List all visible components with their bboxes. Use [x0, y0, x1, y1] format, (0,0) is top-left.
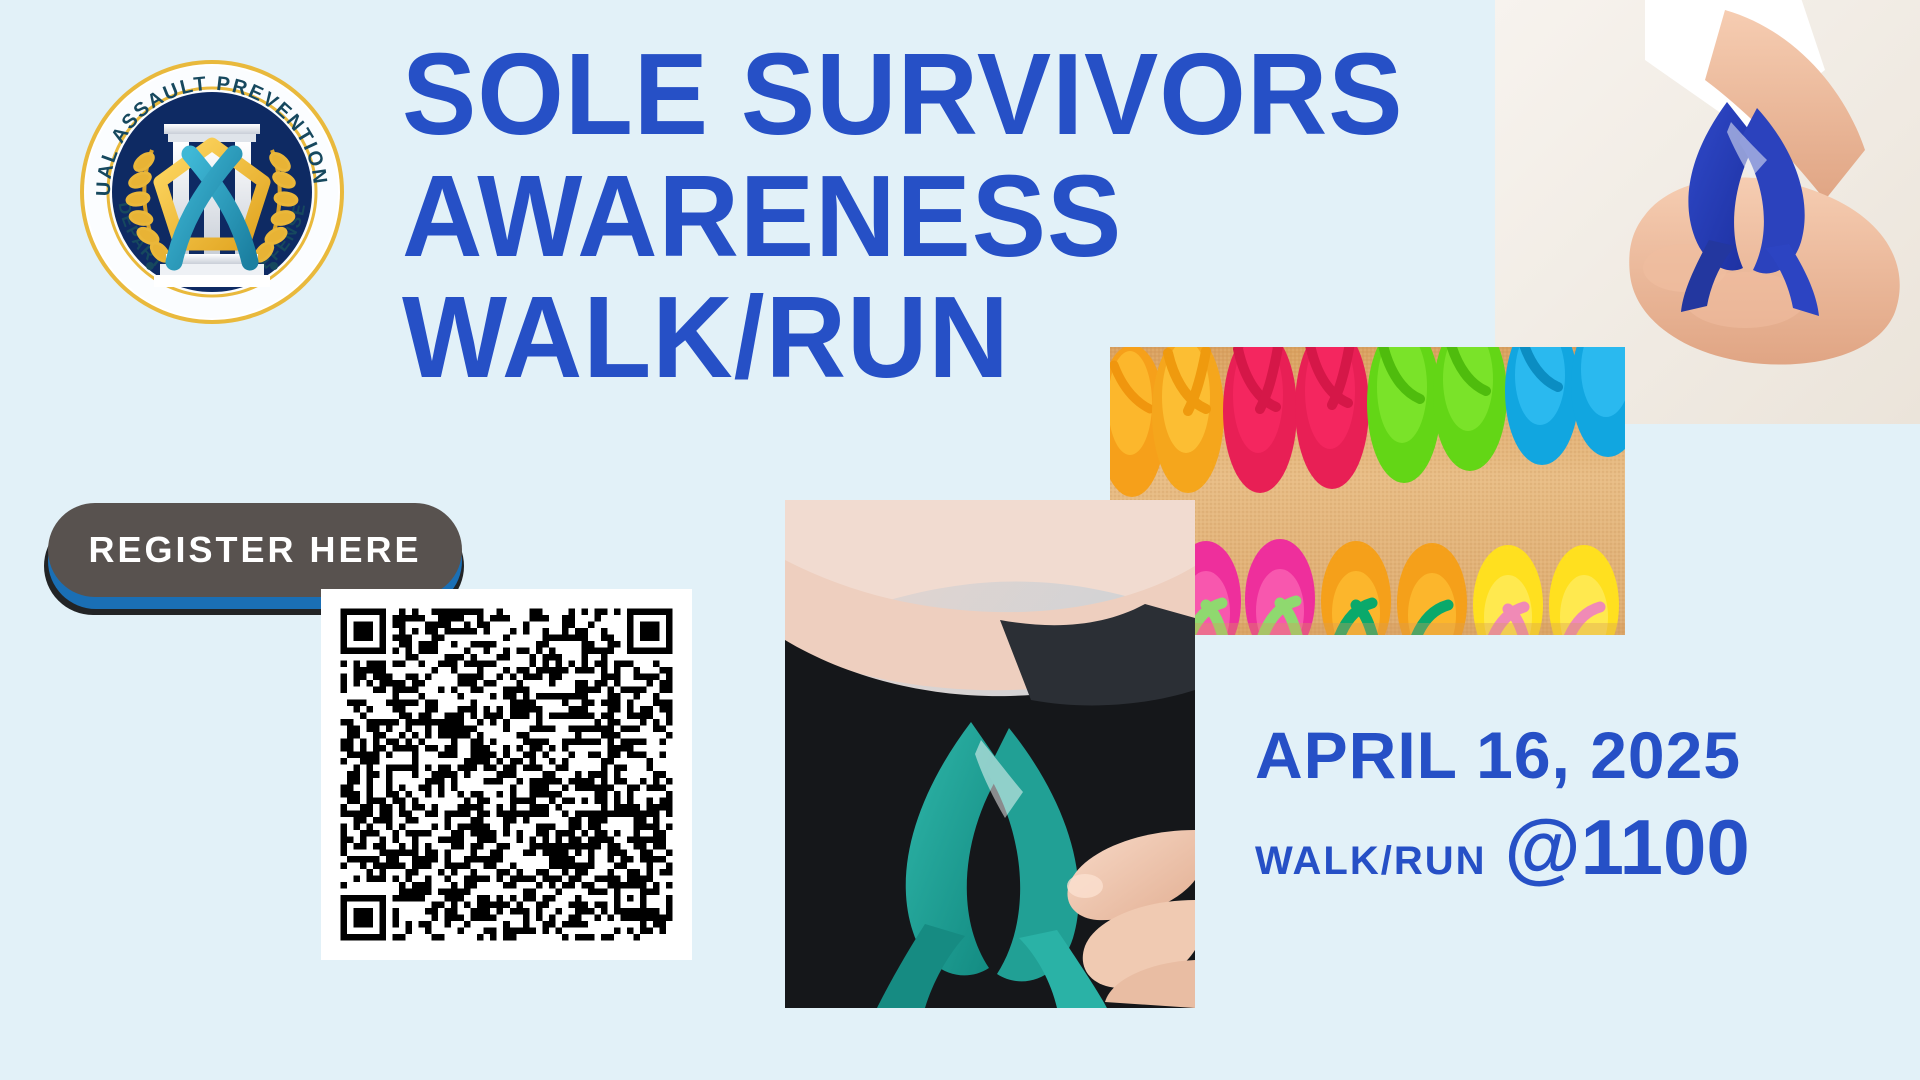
- flyer-canvas: SEXUAL ASSAULT PREVENTION AND DEPARTMENT…: [0, 0, 1920, 1080]
- event-date: APRIL 16, 2025: [1255, 722, 1875, 788]
- photo-person-holding-teal-ribbon: [785, 500, 1195, 1008]
- qr-code-image: [321, 589, 692, 960]
- qr-code-registration[interactable]: [321, 589, 692, 960]
- button-face[interactable]: REGISTER HERE: [48, 503, 462, 597]
- event-time-row: WALK/RUN @1100: [1255, 802, 1875, 893]
- title-line-2: AWARENESS: [402, 160, 1439, 274]
- register-button-label: REGISTER HERE: [88, 529, 421, 571]
- event-details: APRIL 16, 2025 WALK/RUN @1100: [1255, 722, 1875, 893]
- sapr-dod-seal: SEXUAL ASSAULT PREVENTION AND DEPARTMENT…: [78, 58, 346, 326]
- event-activity-label: WALK/RUN: [1255, 839, 1487, 884]
- event-time: @1100: [1505, 802, 1750, 893]
- title-line-1: SOLE SURVIVORS: [402, 38, 1439, 152]
